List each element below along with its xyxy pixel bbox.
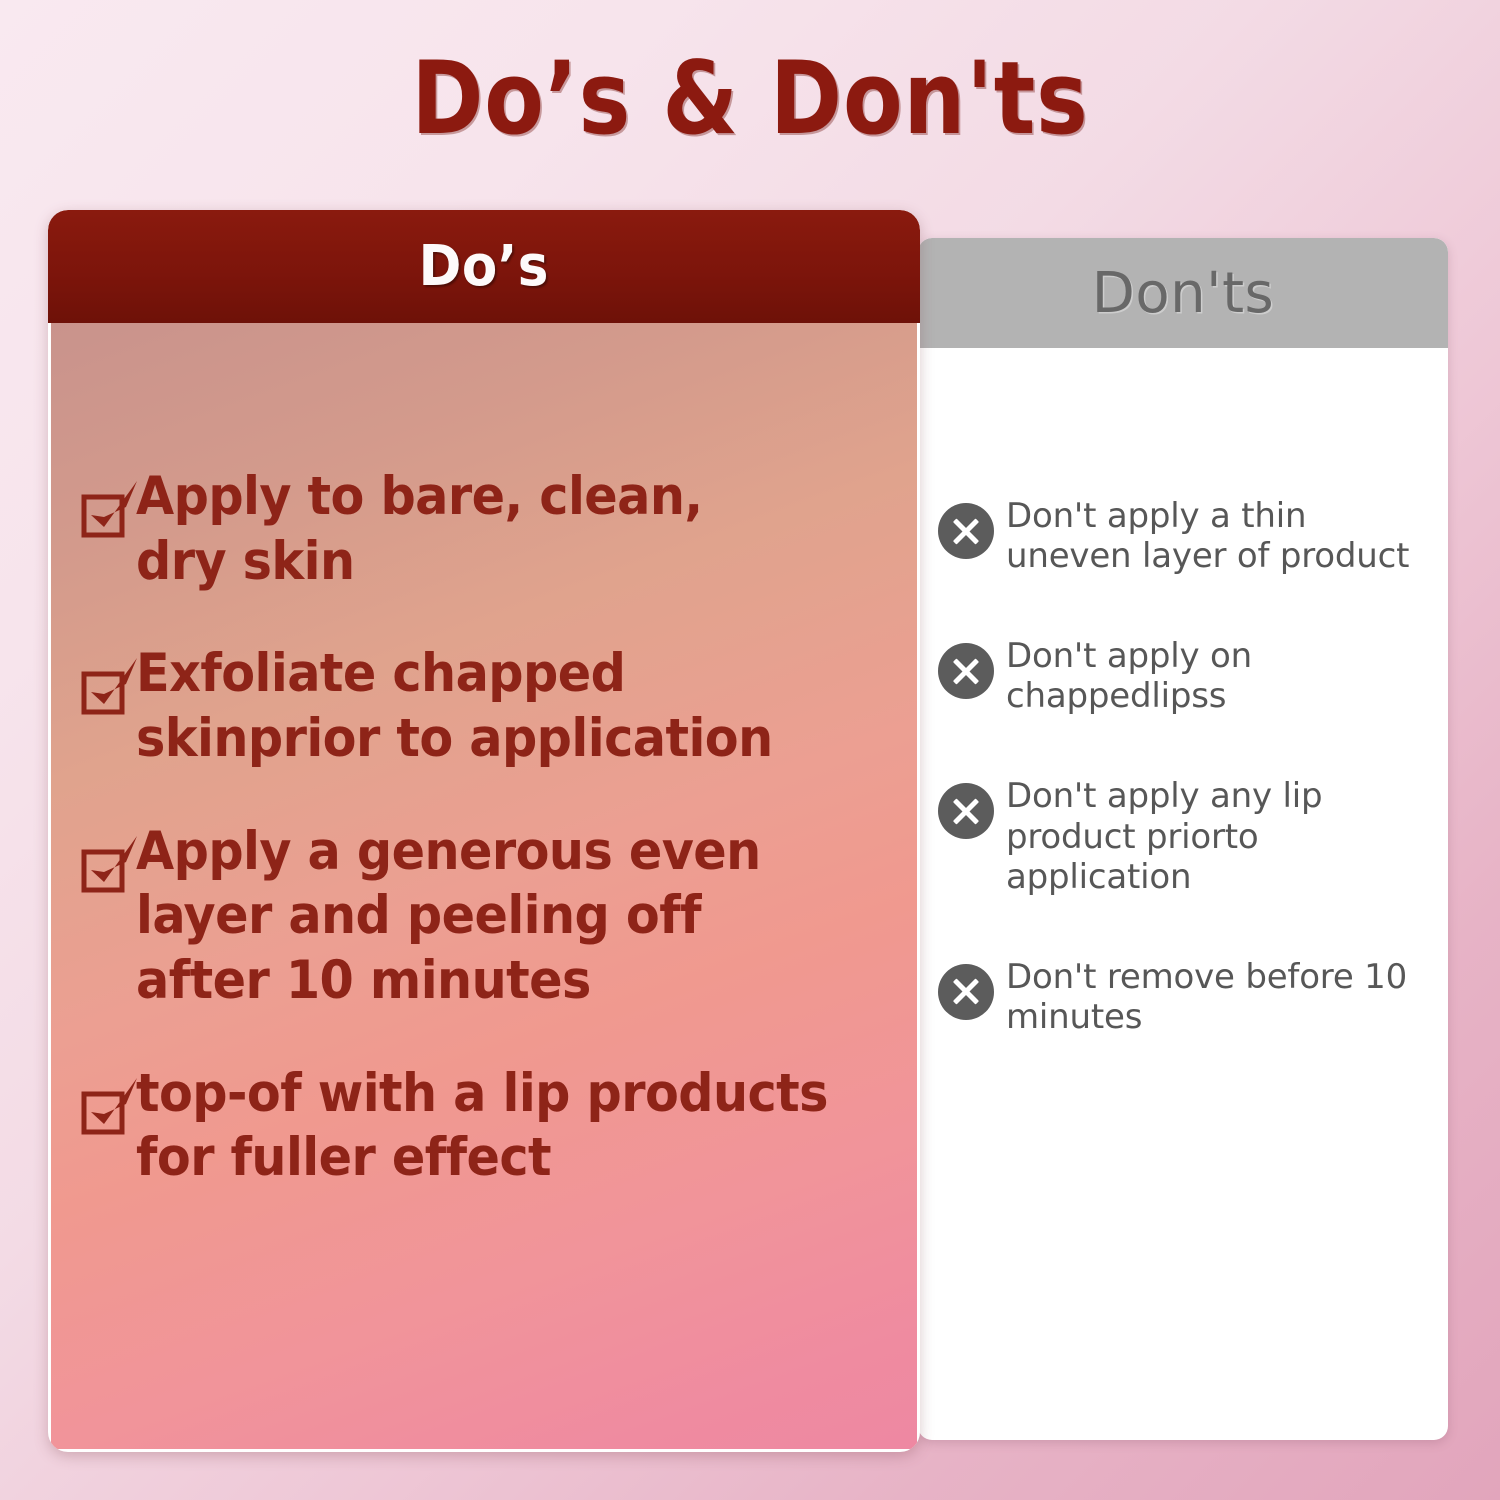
list-item: Exfoliate chapped skinprior to applicati…	[78, 642, 914, 771]
x-circle-icon	[938, 503, 994, 559]
donts-header-label: Don'ts	[1092, 261, 1274, 326]
list-item: top-of with a lip products for fuller ef…	[78, 1062, 914, 1191]
dont-item-label: Don't apply any lip product priorto appl…	[1006, 776, 1434, 896]
do-item-label: Apply a generous even layer and peeling …	[136, 820, 761, 1014]
list-item: Apply a generous even layer and peeling …	[78, 820, 914, 1014]
x-circle-icon	[938, 964, 994, 1020]
x-circle-icon	[938, 783, 994, 839]
dont-item-label: Don't remove before 10 minutes	[1006, 957, 1434, 1037]
do-item-label: Exfoliate chapped skinprior to applicati…	[136, 642, 773, 771]
do-item-label: Apply to bare, clean, dry skin	[136, 465, 703, 594]
dont-item-label: Don't apply on chappedlipss	[1006, 636, 1434, 716]
do-item-label: top-of with a lip products for fuller ef…	[136, 1062, 828, 1191]
list-item: Don't apply on chappedlipss	[938, 636, 1434, 716]
list-item: Don't apply any lip product priorto appl…	[938, 776, 1434, 896]
dos-header: Do’s	[48, 210, 920, 323]
dos-panel: Do’s Apply to bare, clean, dry skin Exfo…	[48, 210, 920, 1452]
list-item: Apply to bare, clean, dry skin	[78, 465, 914, 594]
checkbox-check-icon	[80, 654, 142, 716]
checkbox-check-icon	[80, 477, 142, 539]
checkbox-check-icon	[80, 832, 142, 894]
dos-list: Apply to bare, clean, dry skin Exfoliate…	[78, 465, 914, 1239]
dont-item-label: Don't apply a thin uneven layer of produ…	[1006, 496, 1434, 576]
list-item: Don't remove before 10 minutes	[938, 957, 1434, 1037]
donts-panel: Don'ts Don't apply a thin uneven layer o…	[918, 238, 1448, 1440]
page-title: Do’s & Don'ts	[105, 42, 1395, 155]
list-item: Don't apply a thin uneven layer of produ…	[938, 496, 1434, 576]
donts-header: Don'ts	[918, 238, 1448, 348]
x-circle-icon	[938, 643, 994, 699]
donts-list: Don't apply a thin uneven layer of produ…	[938, 496, 1434, 1097]
checkbox-check-icon	[80, 1074, 142, 1136]
dos-header-label: Do’s	[419, 234, 549, 299]
